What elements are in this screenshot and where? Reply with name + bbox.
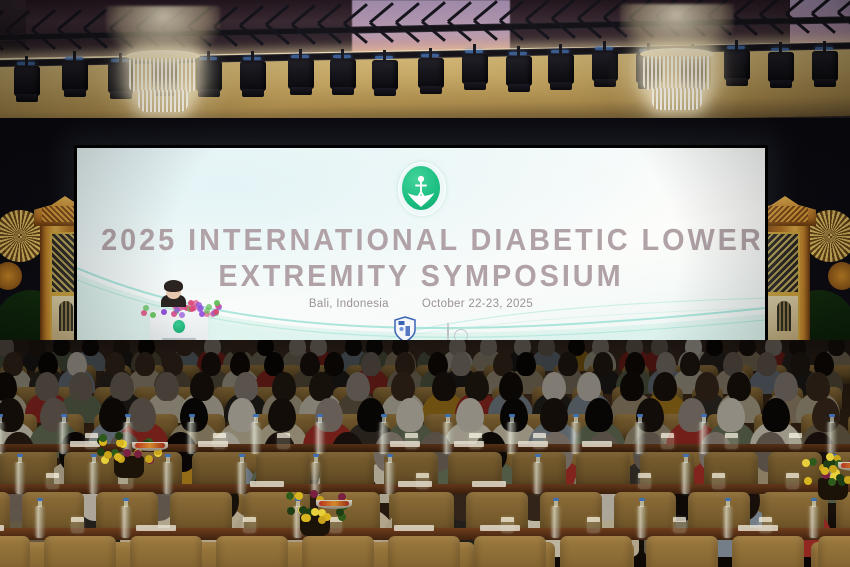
fruit-bowl (316, 500, 352, 509)
podium-flower (214, 300, 220, 306)
truss-brace (551, 0, 576, 20)
truss-brace (317, 3, 342, 25)
water-bottle (237, 462, 246, 494)
stage-spotlight (372, 58, 398, 98)
audience-member-head (432, 372, 456, 401)
paper-note (518, 441, 548, 447)
audience-member-head (706, 340, 723, 356)
truss-brace (551, 18, 576, 40)
stage-spotlight (462, 52, 488, 92)
symposium-emblem (398, 162, 444, 214)
audience-member-head (135, 352, 155, 376)
audience-chair (646, 536, 718, 567)
medallion-center (828, 262, 850, 290)
stage-spotlight (768, 50, 794, 90)
truss-brace (525, 18, 550, 40)
truss-brace (291, 4, 316, 26)
audience-member-head (268, 398, 296, 432)
audience-member-head (828, 340, 845, 356)
truss-brace (57, 28, 82, 50)
drinking-glass (725, 433, 738, 449)
flower-bloom (836, 474, 844, 482)
flower-bloom (809, 458, 817, 466)
water-bottle (827, 422, 836, 454)
water-bottle (809, 506, 818, 538)
paper-note (250, 481, 284, 487)
podium-emblem (173, 320, 185, 333)
truss-brace (577, 17, 602, 39)
flower-centerpiece (96, 430, 162, 476)
flower-bloom (145, 455, 153, 463)
event-dates: October 22-23, 2025 (422, 298, 533, 310)
water-bottle (187, 422, 196, 454)
fruit-bowl (132, 442, 168, 451)
truss-brace (759, 0, 784, 16)
audience-member-head (774, 372, 798, 401)
drinking-glass (587, 517, 600, 533)
water-bottle (121, 506, 130, 538)
audience-member-head (806, 372, 830, 401)
audience-member-head (451, 352, 471, 376)
audience-member-head (542, 372, 566, 401)
water-bottle (35, 506, 44, 538)
audience-member-head (762, 398, 790, 432)
chandelier-crystals-lower (138, 90, 188, 112)
audience-seating (0, 340, 850, 567)
audience-member-head (396, 398, 424, 432)
podium-flower (197, 306, 203, 312)
audience-member-head (585, 398, 613, 432)
podium-flower (161, 309, 167, 315)
podium-flower (150, 312, 156, 318)
water-bottle (443, 422, 452, 454)
audience-member-head (558, 352, 578, 376)
paper-note (0, 525, 4, 531)
paper-note (454, 441, 484, 447)
screen-title-line-2: EXTREMITY SYMPOSIUM (101, 258, 741, 294)
flower-bloom (299, 506, 307, 514)
audience-member-head (53, 340, 70, 356)
ceiling-wall-left (0, 0, 26, 60)
audience-member-head (739, 340, 756, 356)
audience-member-head (465, 372, 489, 401)
drinking-glass (673, 517, 686, 533)
water-bottle (385, 462, 394, 494)
water-bottle (723, 506, 732, 538)
audience-member-head (620, 372, 644, 401)
truss-brace (317, 23, 342, 45)
water-bottle (571, 422, 580, 454)
audience-member-head (593, 352, 613, 376)
audience-chair (732, 536, 804, 567)
flower-bloom (821, 467, 829, 475)
paper-note (480, 525, 520, 531)
flower-bloom (295, 492, 303, 500)
screen-title-line-1: 2025 INTERNATIONAL DIABETIC LOWER (101, 222, 741, 258)
truss-brace (57, 9, 82, 31)
gate-carved-panel-upper (766, 232, 800, 294)
drinking-glass (277, 433, 290, 449)
paper-note (198, 441, 228, 447)
paper-note (390, 441, 420, 447)
audience-member-head (757, 352, 777, 376)
medallion-center (0, 262, 22, 290)
truss-brace (525, 0, 550, 21)
stage-spotlight (418, 56, 444, 96)
water-bottle (681, 462, 690, 494)
truss-brace (577, 0, 602, 20)
paper-note (582, 441, 612, 447)
drinking-glass (46, 473, 59, 489)
drinking-glass (712, 473, 725, 489)
stage-spotlight (548, 52, 574, 92)
audience-member-head (695, 372, 719, 401)
audience-member-head (110, 372, 134, 401)
truss-brace (265, 4, 290, 26)
speaker-hair (164, 280, 183, 292)
water-bottle (699, 422, 708, 454)
audience-member-head (361, 352, 381, 376)
flower-bloom (318, 516, 326, 524)
podium-flower (143, 305, 149, 311)
audience-chair (474, 536, 546, 567)
water-bottle (379, 422, 388, 454)
paper-note (394, 525, 434, 531)
audience-chair (0, 536, 30, 567)
truss-brace (239, 5, 264, 27)
audience-member-head (790, 352, 810, 376)
podium-flower (189, 306, 195, 312)
chandelier-crystals-upper (643, 56, 711, 90)
audience-member-head (272, 372, 296, 401)
chandelier-crystals-lower (652, 88, 702, 110)
audience-member-head (480, 340, 497, 356)
stage-spotlight (506, 54, 532, 94)
audience-member-head (516, 352, 536, 376)
paper-note (738, 525, 778, 531)
truss-brace (759, 13, 784, 35)
audience-member-head (155, 372, 179, 401)
audience-member-head (234, 372, 258, 401)
chandelier-right (612, 4, 742, 120)
audience-chair (818, 536, 850, 567)
circular-seal-emblem (447, 323, 449, 341)
water-bottle (59, 422, 68, 454)
audience-member-head (309, 372, 333, 401)
water-bottle (163, 462, 172, 494)
audience-member-head (653, 372, 677, 401)
audience-chair (302, 536, 374, 567)
water-bottle (551, 506, 560, 538)
audience-chair (44, 536, 116, 567)
drinking-glass (71, 517, 84, 533)
audience-chair (388, 536, 460, 567)
truss-brace (31, 29, 56, 51)
stage-spotlight (14, 64, 40, 104)
stage-spotlight (62, 59, 88, 99)
flower-bloom (804, 477, 812, 485)
drinking-glass (786, 473, 799, 489)
audience-member-head (35, 372, 59, 401)
chandelier-crystals-upper (129, 58, 197, 92)
water-bottle (533, 462, 542, 494)
audience-member-head (727, 372, 751, 401)
audience-member-head (680, 352, 700, 376)
water-bottle (251, 422, 260, 454)
stage-spotlight (240, 59, 266, 99)
audience-member-head (324, 352, 344, 376)
audience-member-head (540, 398, 568, 432)
drinking-glass (661, 433, 674, 449)
flower-bloom (844, 476, 850, 484)
flower-bloom (311, 508, 319, 516)
audience-member-head (82, 340, 99, 356)
audience-member-head (346, 372, 370, 401)
flower-centerpiece (282, 488, 348, 534)
water-bottle (0, 422, 4, 454)
paper-note (136, 525, 176, 531)
drinking-glass (638, 473, 651, 489)
truss-brace (31, 9, 56, 31)
flower-bloom (286, 492, 294, 500)
flower-bloom (104, 451, 112, 459)
audience-member-head (456, 398, 484, 432)
ceiling-area (0, 0, 850, 120)
audience-member-head (577, 372, 601, 401)
audience-member-head (717, 398, 745, 432)
chandelier-left (98, 6, 228, 120)
drinking-glass (243, 517, 256, 533)
audience-member-head (391, 372, 415, 401)
truss-brace (265, 24, 290, 46)
water-bottle (315, 422, 324, 454)
water-bottle (15, 462, 24, 494)
audience-member-head (538, 340, 555, 356)
paper-note (398, 481, 432, 487)
audience-member-head (69, 372, 93, 401)
flower-bloom (115, 432, 123, 440)
event-location: Bali, Indonesia (309, 298, 389, 310)
audience-member-head (190, 372, 214, 401)
paper-note (472, 481, 506, 487)
audience-chair (560, 536, 632, 567)
gate-carved-panel-lower (766, 294, 800, 342)
audience-chair (130, 536, 202, 567)
flower-bloom (287, 507, 295, 515)
conference-hall-photo: 2025 INTERNATIONAL DIABETIC LOWER EXTREM… (0, 0, 850, 567)
stage-spotlight (288, 57, 314, 97)
flower-bloom (802, 459, 810, 467)
water-bottle (635, 422, 644, 454)
audience-member-head (499, 372, 523, 401)
truss-brace (239, 24, 264, 46)
stage-spotlight (812, 49, 838, 89)
drinking-glass (789, 433, 802, 449)
water-bottle (507, 422, 516, 454)
truss-brace (291, 23, 316, 45)
audience-chair (216, 536, 288, 567)
flower-centerpiece (800, 452, 850, 498)
stage-spotlight (330, 57, 356, 97)
emblem-figure-icon (398, 162, 444, 214)
water-bottle (637, 506, 646, 538)
